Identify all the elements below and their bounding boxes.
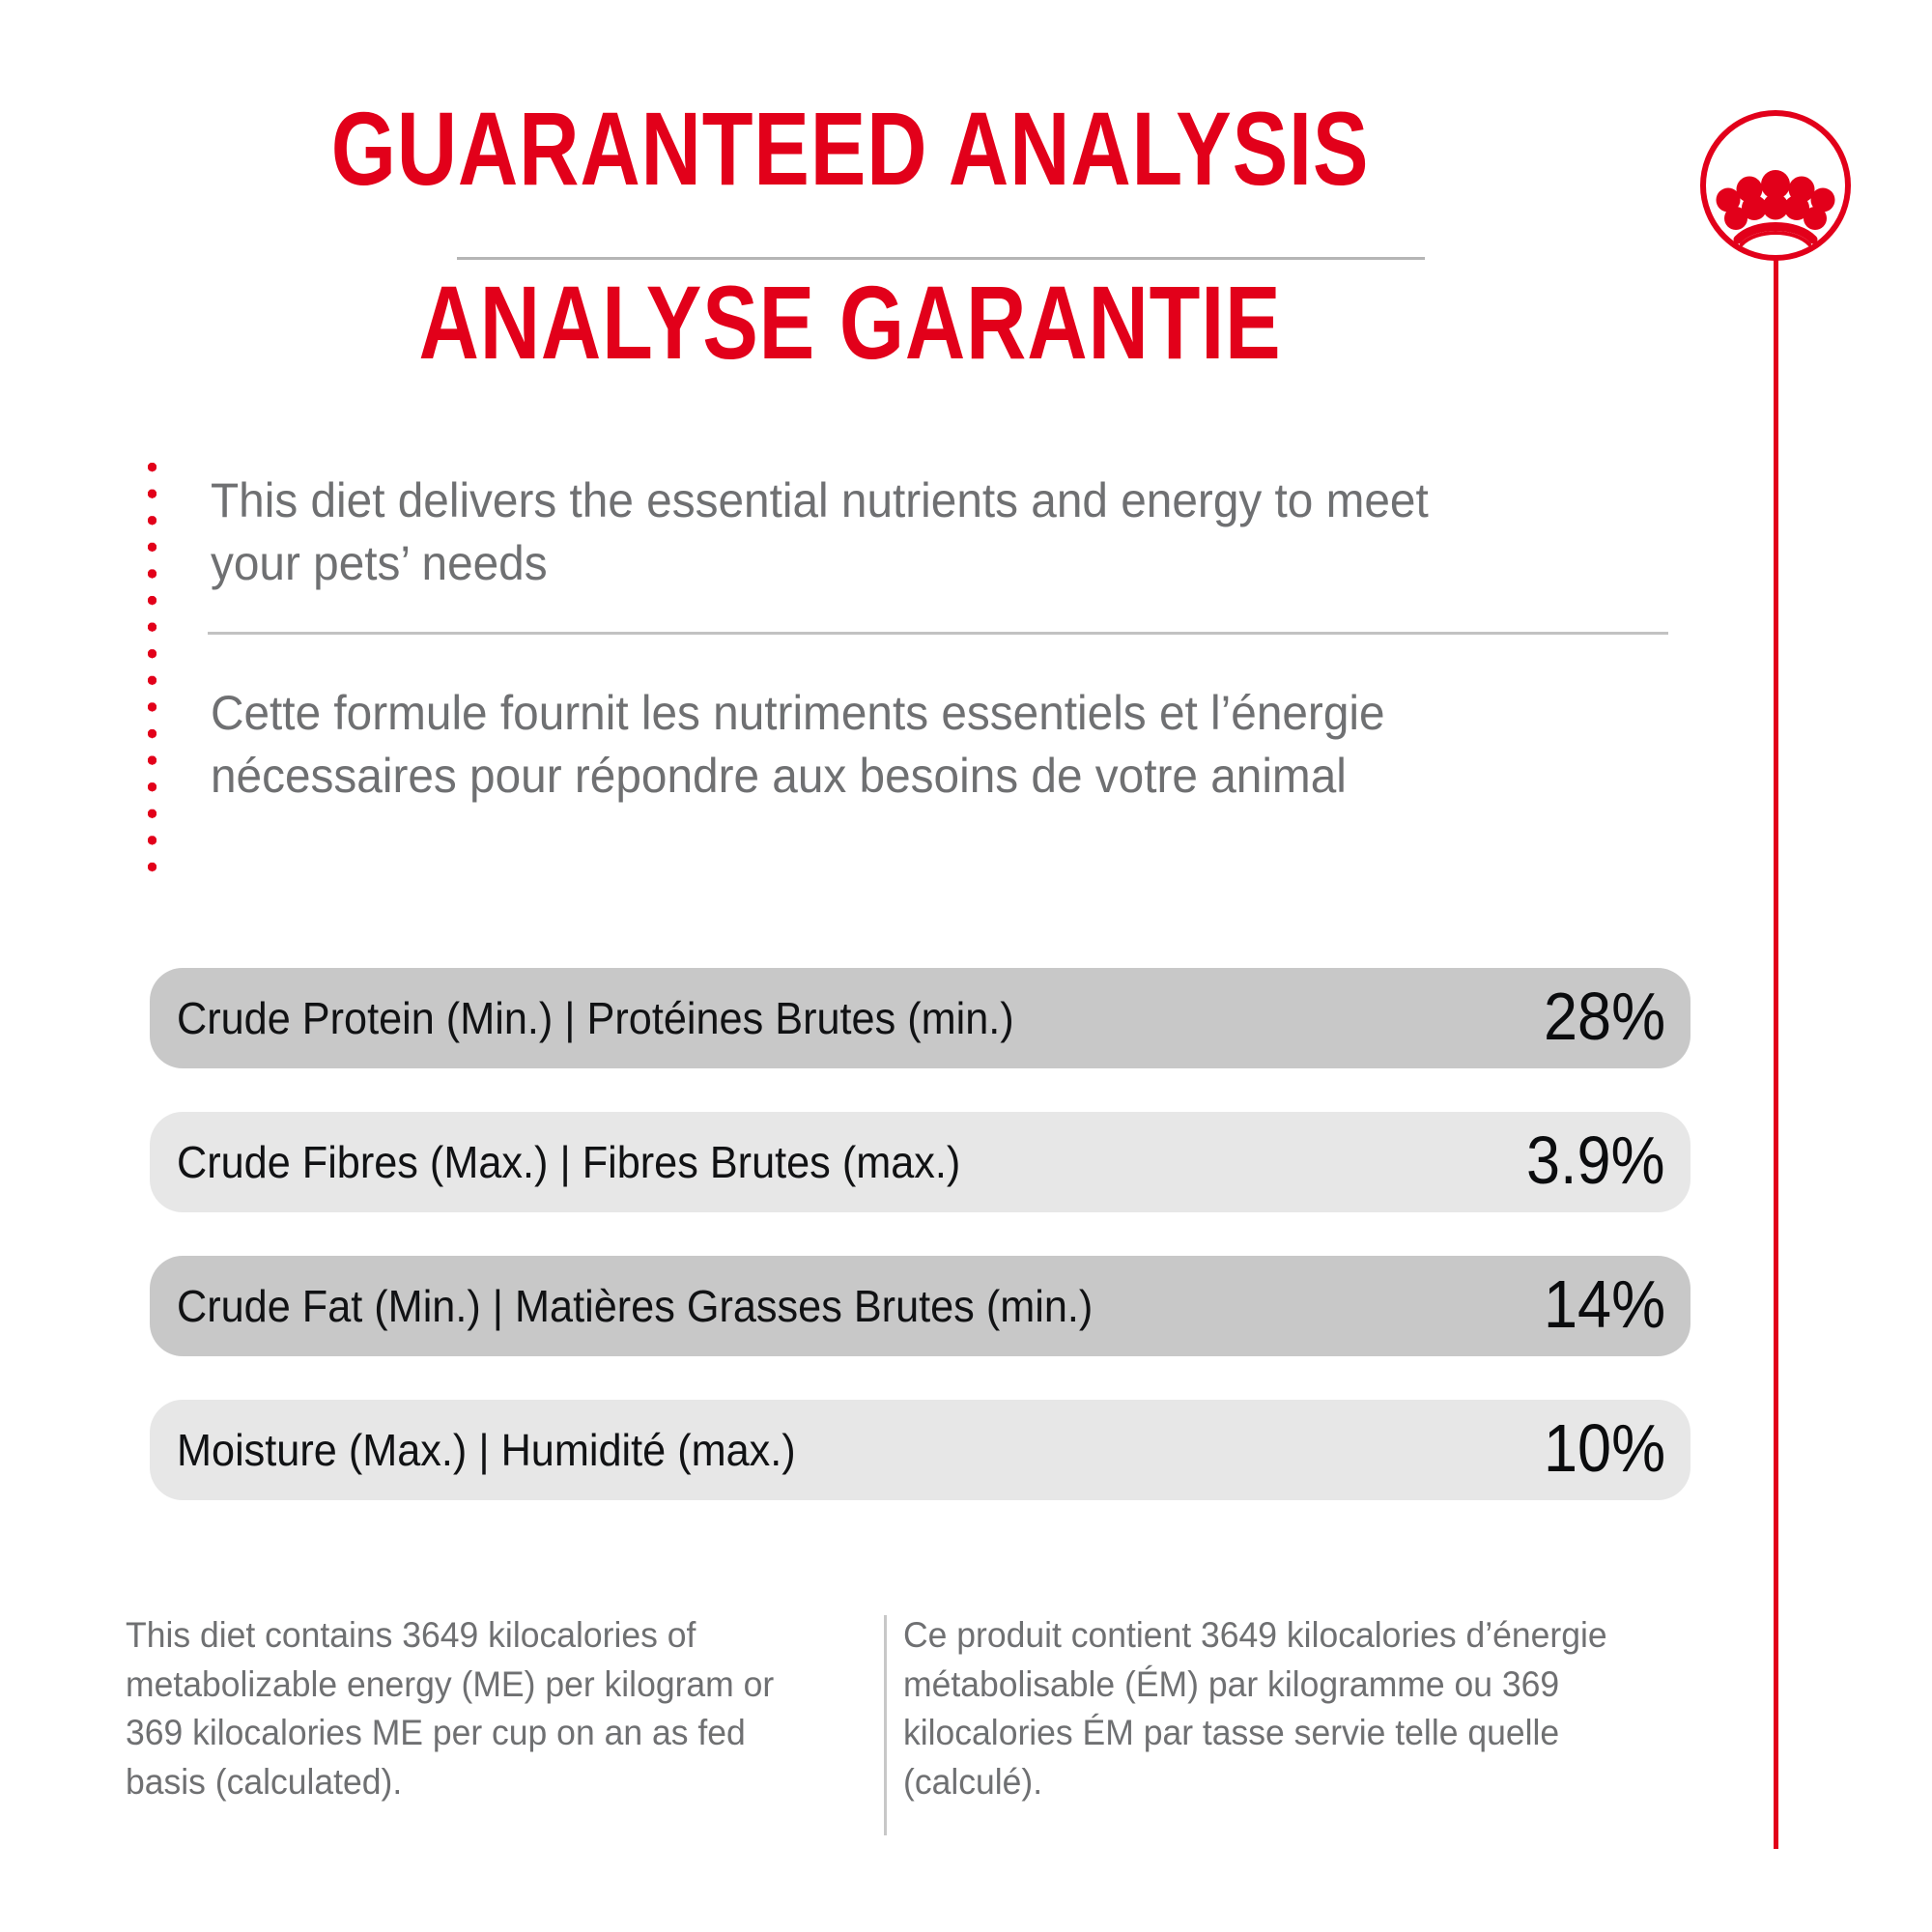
page-title: GUARANTEED ANALYSIS [0, 93, 1700, 206]
title-french: ANALYSE GARANTIE [170, 267, 1530, 380]
guaranteed-analysis-panel: GUARANTEED ANALYSIS ANALYSE GARANTIE [0, 0, 1932, 1932]
footer-note-english: This diet contains 3649 kilocalories of … [126, 1611, 811, 1807]
red-dotted-rail [147, 462, 157, 883]
nutrient-row: Crude Protein (Min.) | Protéines Brutes … [150, 968, 1690, 1068]
nutrient-label: Moisture (Max.) | Humidité (max.) [177, 1428, 796, 1472]
nutrient-label: Crude Fat (Min.) | Matières Grasses Brut… [177, 1284, 1093, 1328]
nutrient-label: Crude Protein (Min.) | Protéines Brutes … [177, 996, 1014, 1040]
royal-canin-crown-logo [1698, 108, 1853, 263]
nutrient-list: Crude Protein (Min.) | Protéines Brutes … [150, 968, 1690, 1500]
nutrient-value: 28% [1544, 982, 1665, 1054]
intro-text-french: Cette formule fournit les nutriments ess… [211, 682, 1502, 808]
footer-note-french: Ce produit contient 3649 kilocalories d’… [903, 1611, 1635, 1807]
nutrient-row: Moisture (Max.) | Humidité (max.) 10% [150, 1400, 1690, 1500]
nutrient-value: 10% [1544, 1414, 1665, 1486]
nutrient-label: Crude Fibres (Max.) | Fibres Brutes (max… [177, 1140, 960, 1184]
nutrient-row: Crude Fat (Min.) | Matières Grasses Brut… [150, 1256, 1690, 1356]
footer-notes: This diet contains 3649 kilocalories of … [126, 1611, 1700, 1853]
nutrient-value: 14% [1544, 1270, 1665, 1342]
intro-text-english: This diet delivers the essential nutrien… [211, 469, 1502, 595]
nutrient-value: 3.9% [1526, 1126, 1665, 1198]
footer-column-divider [884, 1615, 887, 1835]
intro-divider [208, 632, 1668, 635]
title-english: GUARANTEED ANALYSIS [170, 93, 1530, 206]
title-divider [457, 257, 1425, 260]
nutrient-row: Crude Fibres (Max.) | Fibres Brutes (max… [150, 1112, 1690, 1212]
page-title-fr-wrap: ANALYSE GARANTIE [0, 267, 1700, 380]
logo-stem-line [1774, 259, 1778, 1849]
